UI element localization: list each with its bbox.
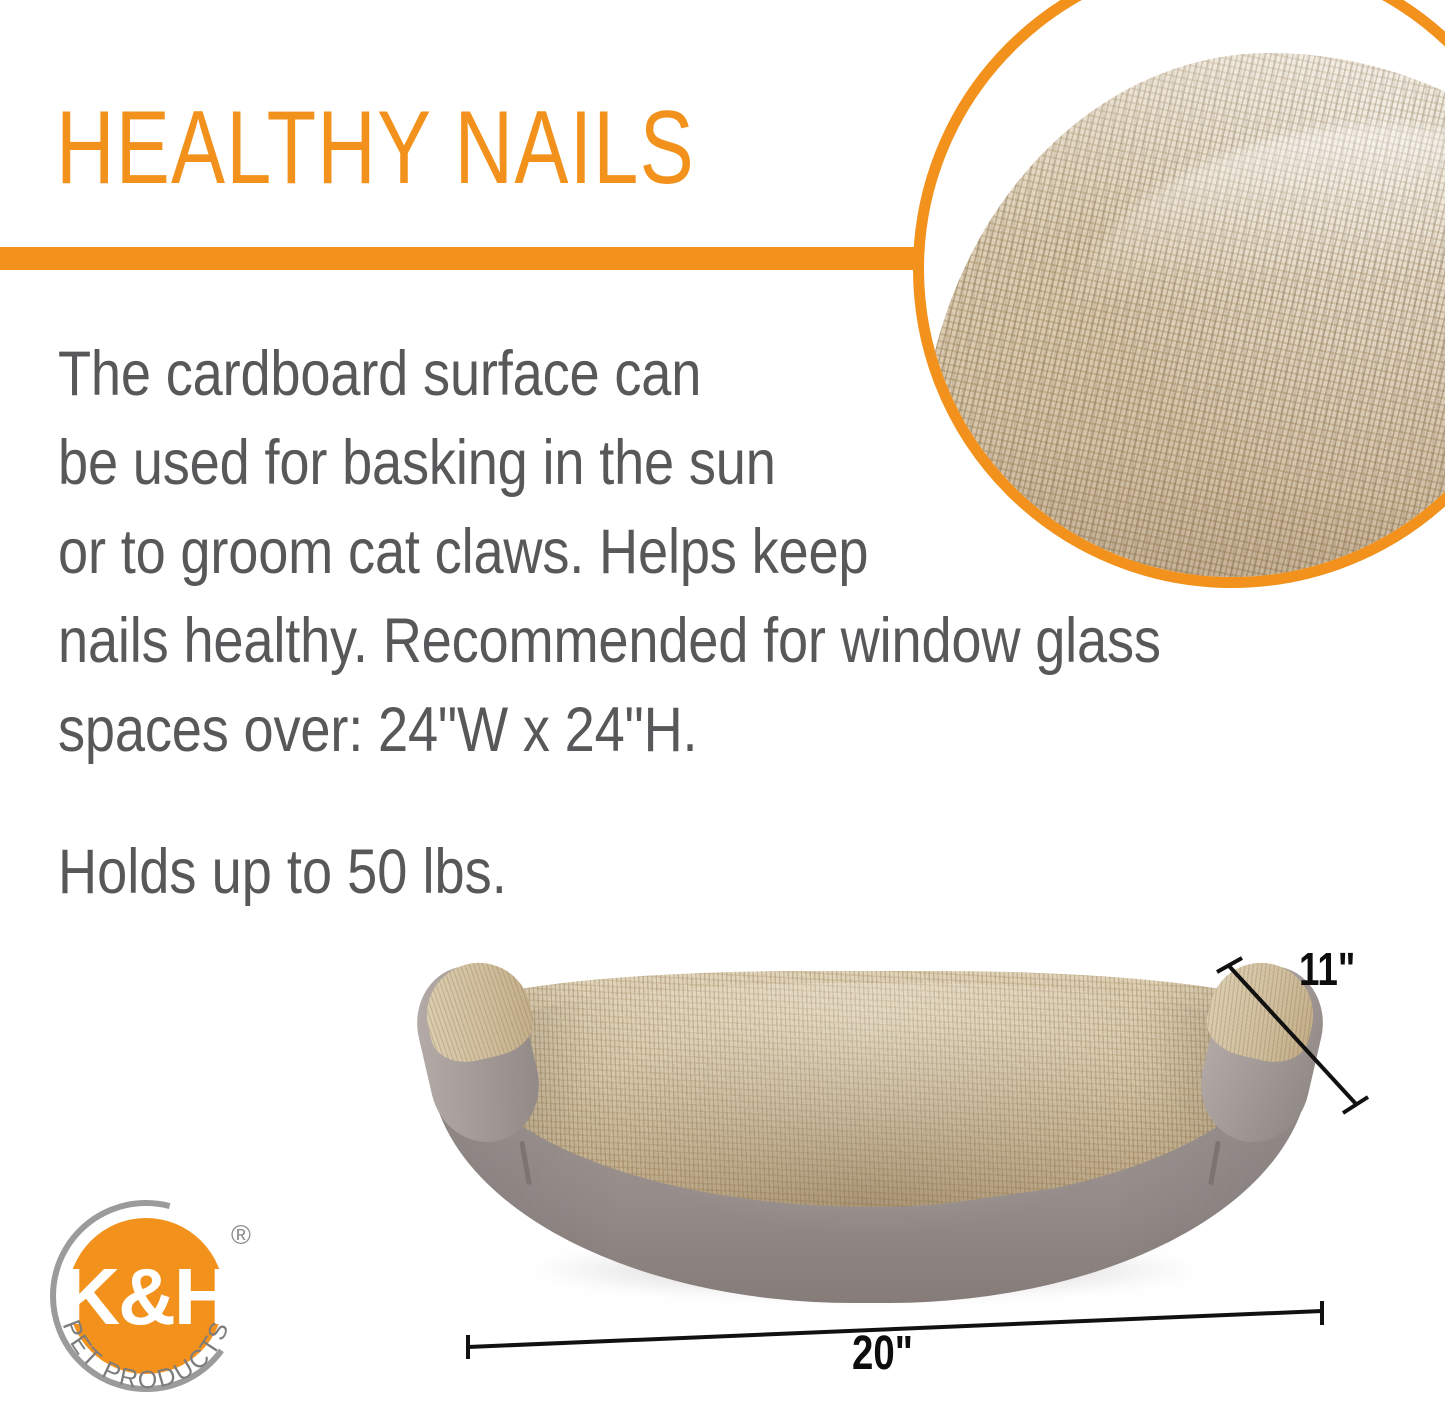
description-line: nails healthy. Recommended for window gl… bbox=[58, 597, 1236, 686]
brand-logo: K&H ® PET PRODUCTS bbox=[42, 1196, 274, 1408]
dimension-label-depth: 11" bbox=[1299, 942, 1355, 996]
logo-wordmark: K&H bbox=[62, 1252, 229, 1341]
product-photo bbox=[430, 965, 1310, 1310]
description-line: spaces over: 24"W x 24"H. bbox=[58, 686, 1236, 775]
dimension-callout-width: 20" bbox=[460, 1300, 1330, 1360]
weight-capacity-text: Holds up to 50 lbs. bbox=[58, 832, 507, 912]
kh-pet-products-logo-icon: K&H ® PET PRODUCTS bbox=[42, 1196, 274, 1408]
description-line: be used for basking in the sun bbox=[58, 419, 1236, 508]
description-paragraph: The cardboard surface can be used for ba… bbox=[58, 330, 1236, 775]
dimension-label-width: 20" bbox=[852, 1326, 913, 1381]
logo-registered-icon: ® bbox=[231, 1220, 251, 1250]
description-line: The cardboard surface can bbox=[58, 330, 1236, 419]
dimension-callout-depth: 11" bbox=[1215, 952, 1370, 1122]
infographic-page: HEALTHY NAILS The cardboard surface can … bbox=[0, 0, 1445, 1418]
orange-divider-rule bbox=[0, 247, 918, 270]
page-title: HEALTHY NAILS bbox=[56, 96, 695, 200]
description-line: or to groom cat claws. Helps keep bbox=[58, 508, 1236, 597]
